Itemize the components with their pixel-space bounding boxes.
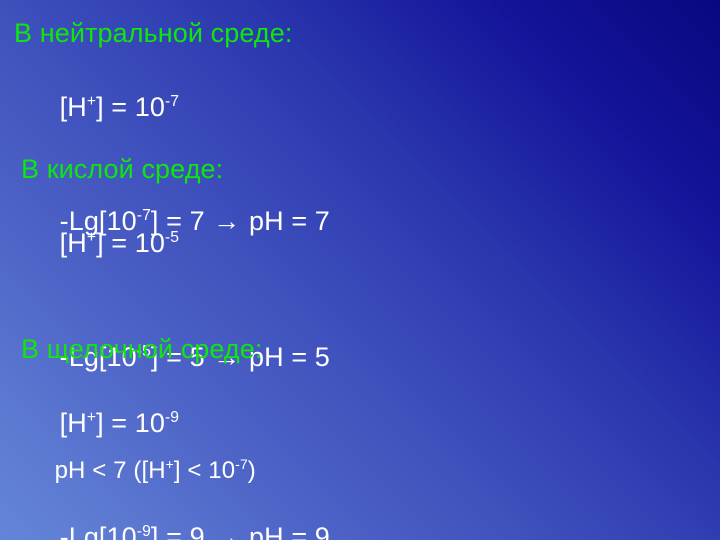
superscript-exponent: -9 bbox=[137, 523, 151, 540]
superscript-charge: + bbox=[87, 229, 96, 246]
rightwards-arrow-icon: → bbox=[212, 522, 241, 540]
formula-prefix: -Lg[10 bbox=[60, 522, 137, 540]
heading-basic: В щелочной среде: bbox=[14, 332, 720, 366]
slide-canvas: В нейтральной среде: [H+] = 10-7 -Lg[10-… bbox=[0, 0, 720, 540]
superscript-charge: + bbox=[87, 409, 96, 426]
heading-acidic: В кислой среде: bbox=[14, 152, 720, 186]
superscript-exponent: -5 bbox=[165, 229, 179, 246]
formula-middle: ] = 10 bbox=[96, 228, 165, 258]
formula-neutral-concentration: [H+] = 10-7 bbox=[14, 50, 720, 164]
formula-middle: ] = 10 bbox=[96, 408, 165, 438]
superscript-charge: + bbox=[87, 93, 96, 110]
heading-neutral: В нейтральной среде: bbox=[14, 16, 720, 50]
formula-prefix: [H bbox=[60, 92, 87, 122]
formula-basic-log-result: -Lg[10-9] = 9 → pH = 9 bbox=[14, 480, 720, 540]
superscript-exponent: -7 bbox=[165, 93, 179, 110]
superscript-exponent: -9 bbox=[165, 409, 179, 426]
formula-middle: ] = 9 bbox=[151, 522, 212, 540]
formula-prefix: [H bbox=[60, 408, 87, 438]
text-block-basic: В щелочной среде: [H+] = 10-9 -Lg[10-9] … bbox=[0, 332, 720, 540]
formula-prefix: [H bbox=[60, 228, 87, 258]
formula-middle: ] = 10 bbox=[96, 92, 165, 122]
formula-basic-concentration: [H+] = 10-9 bbox=[14, 366, 720, 480]
formula-acidic-concentration: [H+] = 10-5 bbox=[14, 186, 720, 300]
formula-suffix: pH = 9 bbox=[241, 522, 330, 540]
